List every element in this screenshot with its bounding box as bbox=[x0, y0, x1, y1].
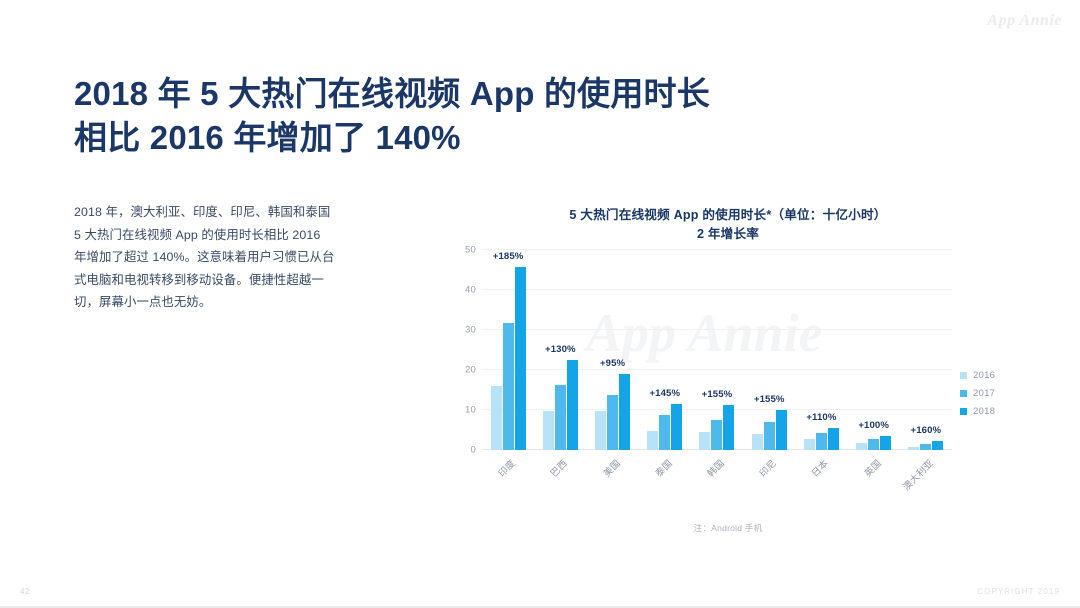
x-axis-cell: 印尼 bbox=[743, 452, 795, 504]
bar-2017[interactable] bbox=[503, 323, 514, 450]
bar-2016[interactable] bbox=[804, 439, 815, 449]
bar-group[interactable]: +110% bbox=[795, 250, 847, 450]
bar-2016[interactable] bbox=[856, 443, 867, 450]
bar-group[interactable]: +160% bbox=[900, 250, 952, 450]
bar-2017[interactable] bbox=[920, 444, 931, 450]
legend-item-2017[interactable]: 2017 bbox=[960, 388, 995, 399]
growth-label: +130% bbox=[545, 344, 576, 355]
bar-2016[interactable] bbox=[908, 447, 919, 450]
bar-2016[interactable] bbox=[699, 432, 710, 450]
growth-label: +145% bbox=[649, 388, 680, 399]
chart-plot-area: App Annie 01020304050 +185%+130%+95%+145… bbox=[448, 250, 1008, 468]
legend-swatch-icon bbox=[960, 390, 967, 397]
x-axis-cell: 英国 bbox=[848, 452, 900, 504]
y-tick-label: 0 bbox=[471, 444, 476, 455]
y-tick-label: 10 bbox=[465, 404, 476, 415]
growth-label: +185% bbox=[493, 251, 524, 262]
app-annie-logo: App Annie bbox=[987, 12, 1062, 30]
chart-subtitle: 2 年增长率 bbox=[448, 225, 1008, 244]
y-tick-label: 20 bbox=[465, 364, 476, 375]
chart-bars: +185%+130%+95%+145%+155%+155%+110%+100%+… bbox=[482, 250, 952, 450]
x-tick-label: 泰国 bbox=[651, 456, 674, 479]
chart-y-axis: 01020304050 bbox=[448, 250, 482, 450]
slide-canvas: App Annie 2018 年 5 大热门在线视频 App 的使用时长 相比 … bbox=[0, 0, 1080, 608]
growth-label: +110% bbox=[806, 412, 836, 423]
bar-2017[interactable] bbox=[555, 385, 566, 450]
bar-2018[interactable] bbox=[880, 436, 891, 450]
chart-container: 5 大热门在线视频 App 的使用时长*（单位：十亿小时） 2 年增长率 App… bbox=[448, 206, 1008, 546]
bar-2016[interactable] bbox=[543, 411, 554, 450]
y-tick-label: 40 bbox=[465, 284, 476, 295]
legend-label: 2016 bbox=[973, 370, 995, 381]
bar-2018[interactable] bbox=[619, 374, 630, 450]
page-title-line-2: 相比 2016 年增加了 140% bbox=[74, 116, 874, 160]
bar-2017[interactable] bbox=[764, 422, 775, 450]
bar-2016[interactable] bbox=[595, 411, 606, 450]
bar-2017[interactable] bbox=[711, 420, 722, 450]
growth-label: +160% bbox=[911, 425, 942, 436]
x-tick-label: 巴西 bbox=[547, 456, 570, 479]
bar-2018[interactable] bbox=[776, 410, 787, 450]
bar-2017[interactable] bbox=[607, 395, 618, 449]
copyright-notice: COPYRIGHT 2019 bbox=[977, 587, 1060, 596]
bar-2017[interactable] bbox=[659, 415, 670, 449]
bar-group[interactable]: +155% bbox=[691, 250, 743, 450]
bar-2016[interactable] bbox=[647, 431, 658, 450]
bar-group[interactable]: +100% bbox=[848, 250, 900, 450]
x-axis-cell: 泰国 bbox=[639, 452, 691, 504]
bar-2018[interactable] bbox=[828, 428, 839, 450]
bar-group[interactable]: +95% bbox=[586, 250, 638, 450]
x-axis-cell: 日本 bbox=[795, 452, 847, 504]
chart-legend: 201620172018 bbox=[960, 370, 995, 424]
bar-2016[interactable] bbox=[491, 386, 502, 450]
bar-2017[interactable] bbox=[868, 439, 879, 449]
growth-label: +155% bbox=[754, 394, 785, 405]
bar-2018[interactable] bbox=[723, 405, 734, 450]
x-axis-cell: 印度 bbox=[482, 452, 534, 504]
bar-2017[interactable] bbox=[816, 433, 827, 450]
legend-label: 2018 bbox=[973, 406, 995, 417]
legend-swatch-icon bbox=[960, 408, 967, 415]
x-tick-label: 美国 bbox=[599, 456, 622, 479]
chart-title: 5 大热门在线视频 App 的使用时长*（单位：十亿小时） bbox=[448, 206, 1008, 225]
page-title-line-1: 2018 年 5 大热门在线视频 App 的使用时长 bbox=[74, 72, 874, 116]
page-title: 2018 年 5 大热门在线视频 App 的使用时长 相比 2016 年增加了 … bbox=[74, 72, 874, 160]
legend-item-2016[interactable]: 2016 bbox=[960, 370, 995, 381]
chart-x-axis: 印度巴西美国泰国韩国印尼日本英国澳大利亚 bbox=[482, 452, 952, 504]
x-axis-cell: 美国 bbox=[586, 452, 638, 504]
page-number: 42 bbox=[20, 587, 30, 596]
bar-2016[interactable] bbox=[752, 434, 763, 450]
body-paragraph: 2018 年，澳大利亚、印度、印尼、韩国和泰国 5 大热门在线视频 App 的使… bbox=[74, 201, 336, 314]
legend-swatch-icon bbox=[960, 372, 967, 379]
bar-2018[interactable] bbox=[515, 267, 526, 449]
x-tick-label: 印尼 bbox=[756, 456, 779, 479]
x-tick-label: 印度 bbox=[495, 456, 518, 479]
growth-label: +155% bbox=[702, 389, 733, 400]
bar-2018[interactable] bbox=[932, 441, 943, 449]
bar-group[interactable]: +145% bbox=[639, 250, 691, 450]
legend-item-2018[interactable]: 2018 bbox=[960, 406, 995, 417]
x-axis-cell: 韩国 bbox=[691, 452, 743, 504]
x-axis-cell: 澳大利亚 bbox=[900, 452, 952, 504]
growth-label: +100% bbox=[858, 420, 889, 431]
chart-footnote: 注：Android 手机 bbox=[448, 522, 1008, 534]
bar-group[interactable]: +155% bbox=[743, 250, 795, 450]
y-tick-label: 30 bbox=[465, 324, 476, 335]
y-tick-label: 50 bbox=[465, 244, 476, 255]
x-tick-label: 日本 bbox=[808, 456, 831, 479]
x-tick-label: 韩国 bbox=[703, 456, 726, 479]
bar-group[interactable]: +130% bbox=[534, 250, 586, 450]
x-tick-label: 澳大利亚 bbox=[899, 456, 936, 493]
bar-group[interactable]: +185% bbox=[482, 250, 534, 450]
x-tick-label: 英国 bbox=[860, 456, 883, 479]
growth-label: +95% bbox=[600, 358, 625, 369]
bar-2018[interactable] bbox=[671, 404, 682, 450]
legend-label: 2017 bbox=[973, 388, 995, 399]
x-axis-cell: 巴西 bbox=[534, 452, 586, 504]
bar-2018[interactable] bbox=[567, 360, 578, 450]
